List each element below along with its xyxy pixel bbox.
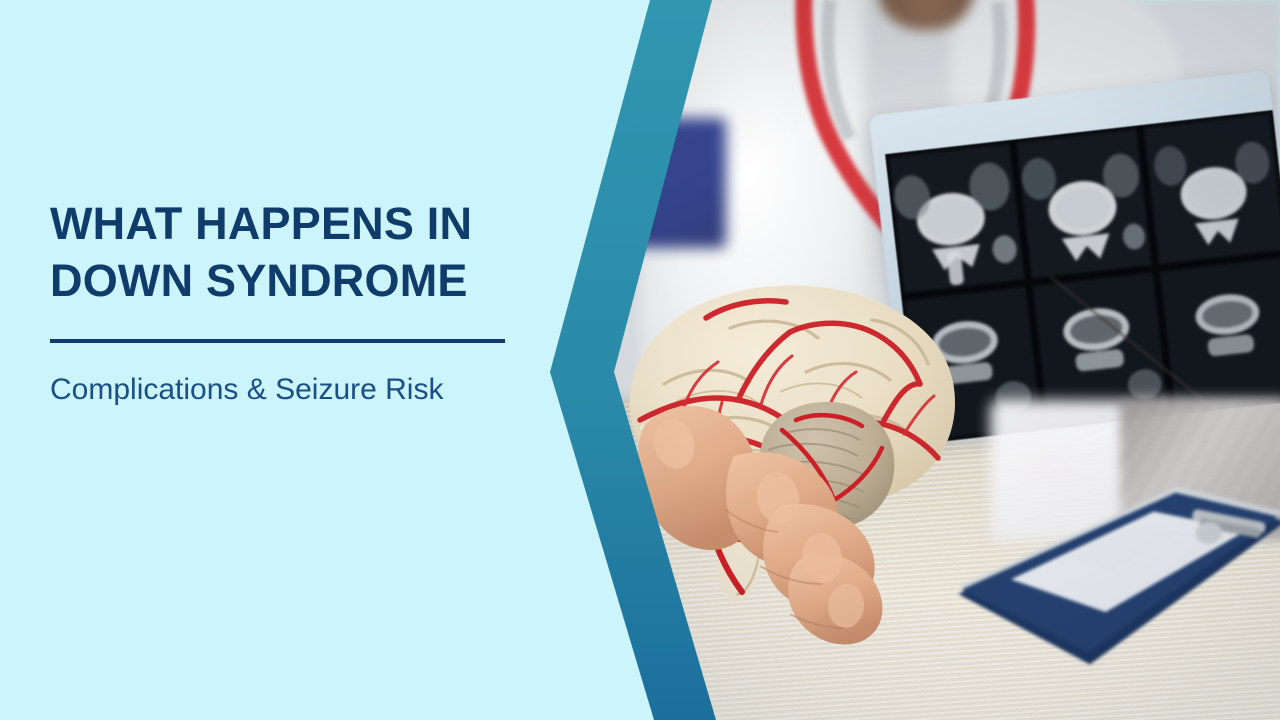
text-panel: WHAT HAPPENS IN DOWN SYNDROME Complicati… [50, 196, 520, 411]
subtitle: Complications & Seizure Risk [50, 369, 470, 410]
photo-panel [600, 0, 1280, 720]
photo-clip-region [600, 0, 1280, 720]
banner-graphic: WHAT HAPPENS IN DOWN SYNDROME Complicati… [0, 0, 1280, 720]
page-title: WHAT HAPPENS IN DOWN SYNDROME [50, 196, 520, 309]
title-divider-rule [50, 339, 505, 343]
hand-holding-model [630, 390, 960, 650]
